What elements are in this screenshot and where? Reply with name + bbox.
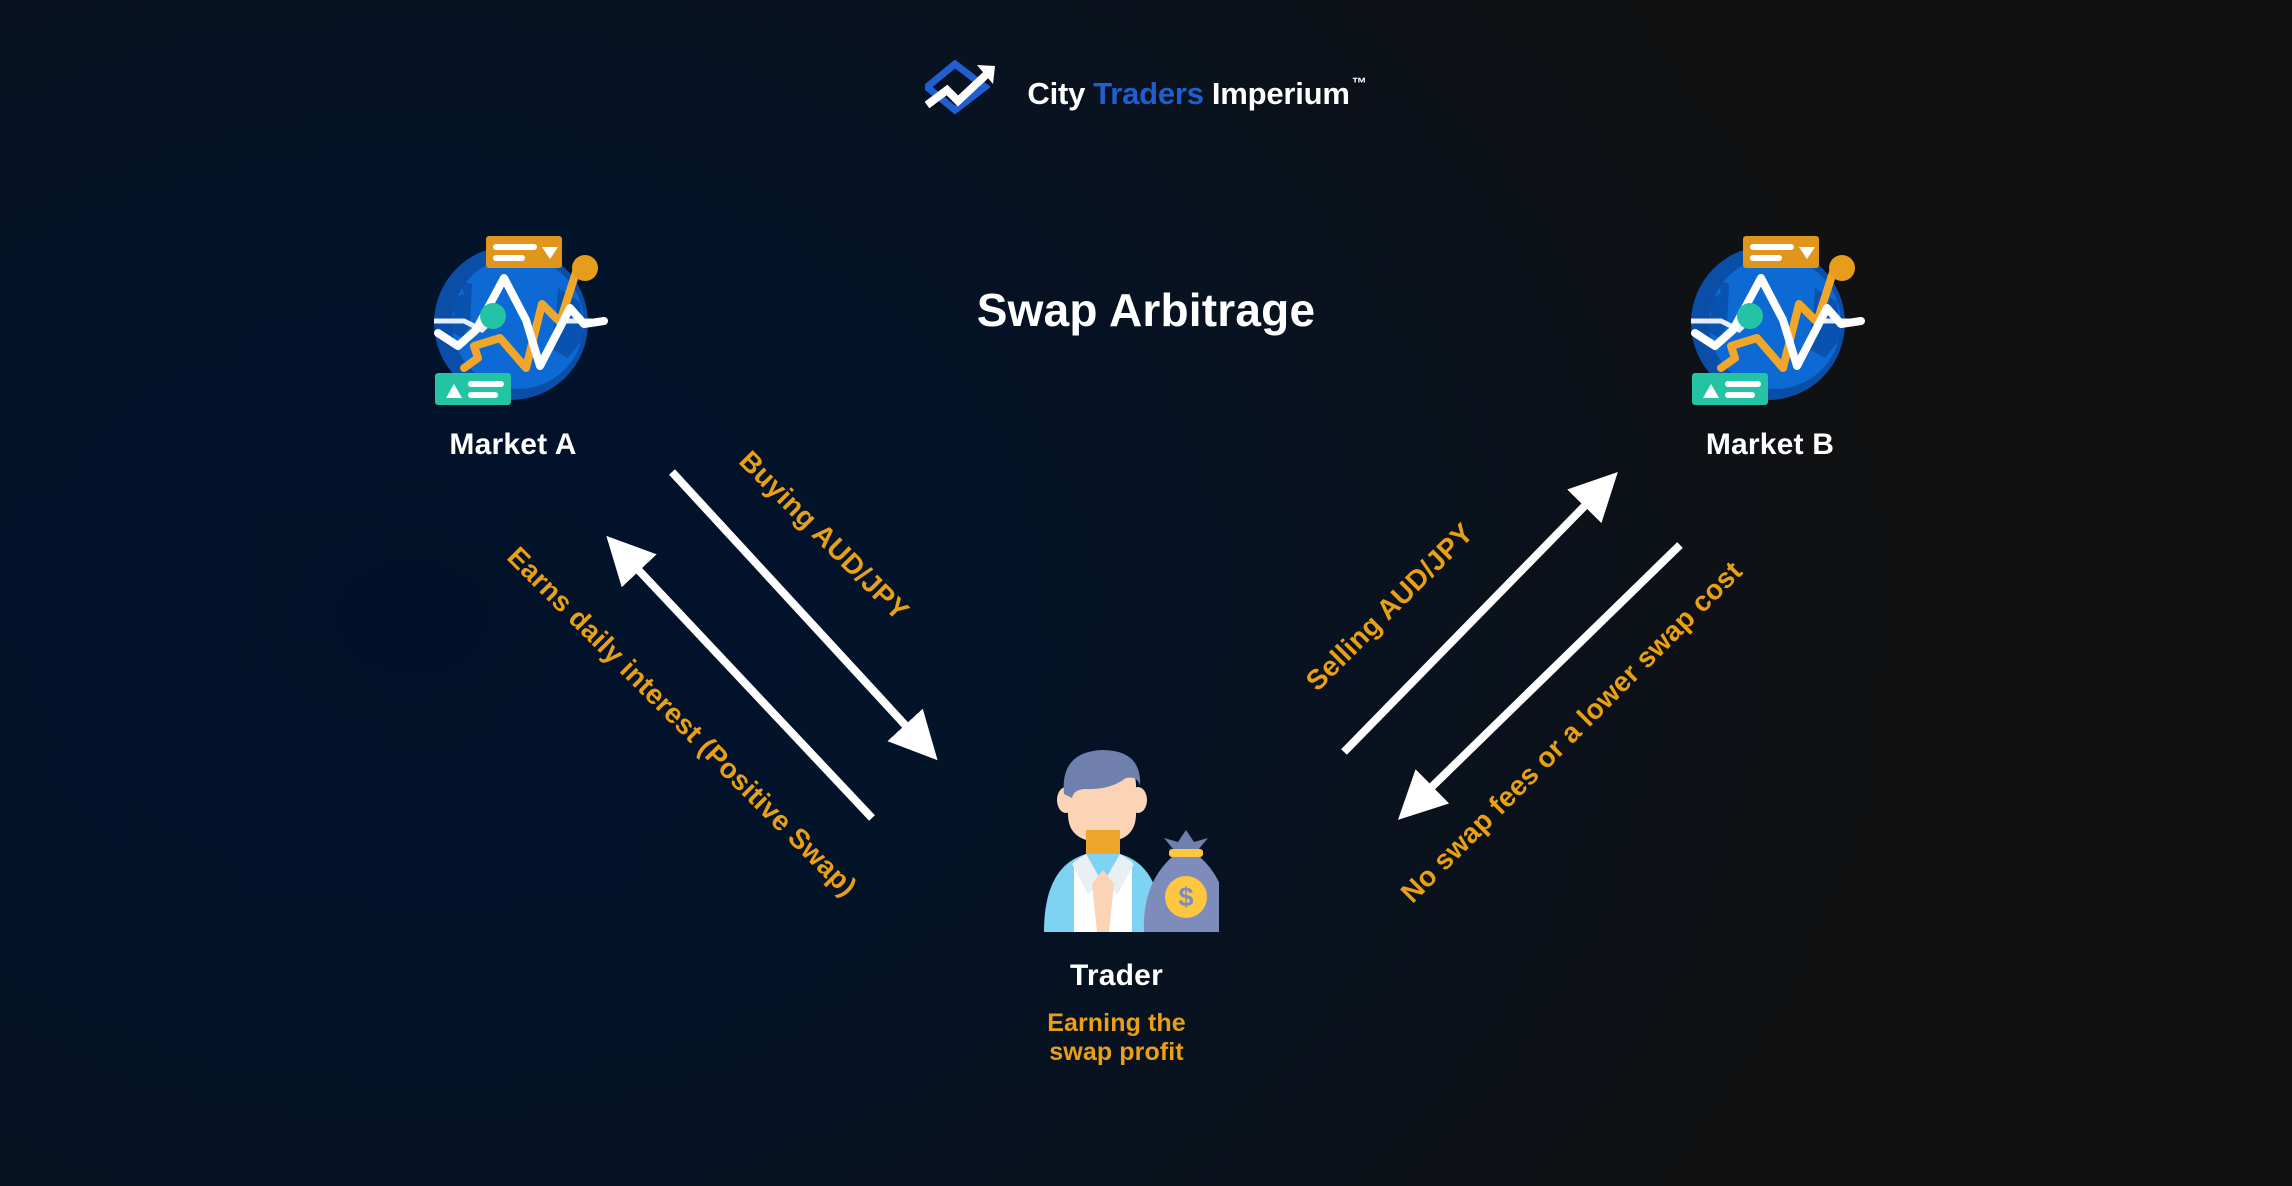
money-bag-tie-icon bbox=[1164, 830, 1208, 850]
node-label-trader: Trader bbox=[1014, 959, 1219, 993]
node-market-b: Market B bbox=[1665, 218, 1875, 462]
node-market-a: Market A bbox=[408, 218, 618, 462]
market-card-buy bbox=[435, 373, 511, 405]
diagram-canvas: City Traders Imperium ™ Swap Arbitrage B… bbox=[0, 0, 2292, 1186]
market-card-buy bbox=[1692, 373, 1768, 405]
node-label-market-b: Market B bbox=[1665, 428, 1875, 462]
trader-with-money-bag-icon: $ bbox=[1014, 742, 1219, 942]
node-trader: $ Trader Earning the swap profit bbox=[1014, 742, 1219, 1067]
globe-chart-icon bbox=[1665, 218, 1875, 418]
svg-text:$: $ bbox=[1178, 882, 1193, 912]
node-label-market-a: Market A bbox=[408, 428, 618, 462]
node-sublabel-trader: Earning the swap profit bbox=[1014, 1009, 1219, 1067]
globe-chart-icon bbox=[408, 218, 618, 418]
